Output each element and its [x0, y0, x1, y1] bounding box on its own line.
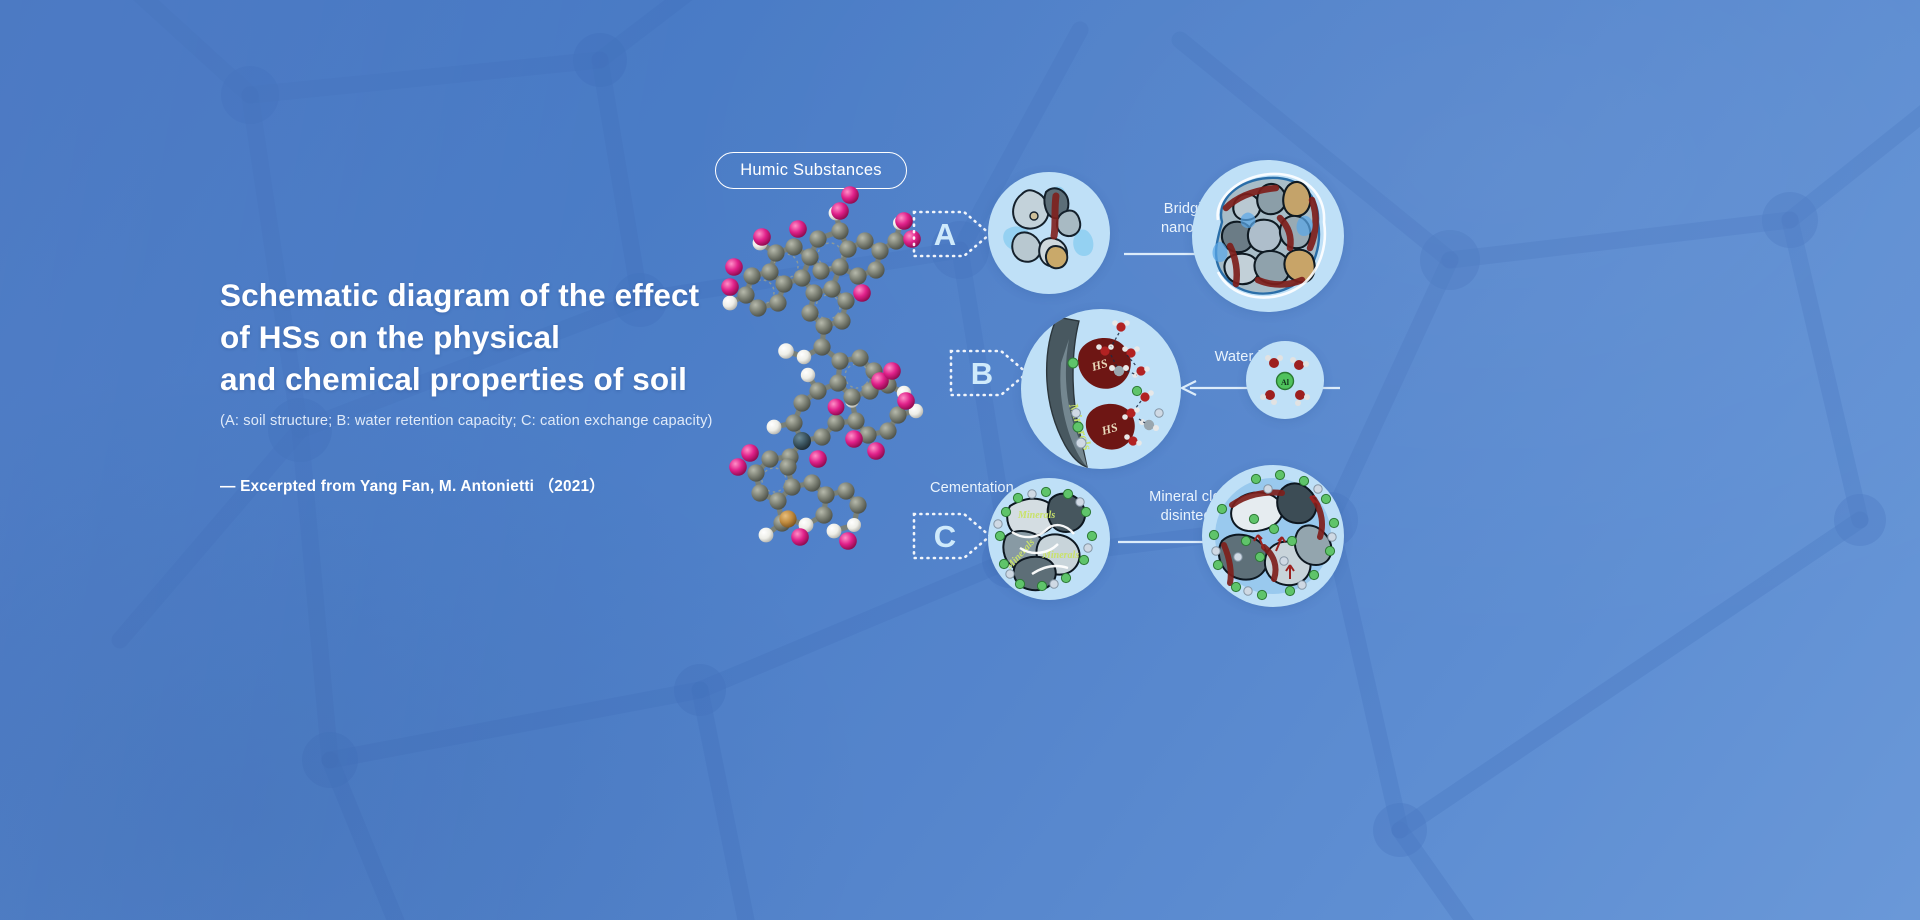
- node-disintegrated-minerals: [1202, 465, 1344, 607]
- diagram-panel: Humic Substances: [690, 0, 1920, 920]
- row-c-chevron-marker: C: [908, 500, 996, 572]
- row-c-pre-caption: Cementation: [930, 480, 1014, 496]
- row-a-chevron-marker: A: [908, 198, 996, 270]
- node-aggregated-soil-cluster: [1192, 160, 1344, 312]
- node-mineral-clogging: Minerals Minerals Minerals: [988, 478, 1110, 600]
- row-b-chevron-marker: B: [945, 337, 1033, 409]
- mineral-label-c1: Minerals: [1017, 510, 1055, 521]
- row-a-letter: A: [916, 198, 974, 270]
- cation-symbol: Al: [1281, 378, 1290, 387]
- node-hs-mineral-water-complex: Minerals HS HS: [1021, 309, 1181, 469]
- node-loose-soil-particles: [988, 172, 1110, 294]
- row-c-letter: C: [916, 500, 974, 572]
- row-b-letter: B: [953, 337, 1011, 409]
- node-hydrated-cation: Al: [1246, 341, 1324, 419]
